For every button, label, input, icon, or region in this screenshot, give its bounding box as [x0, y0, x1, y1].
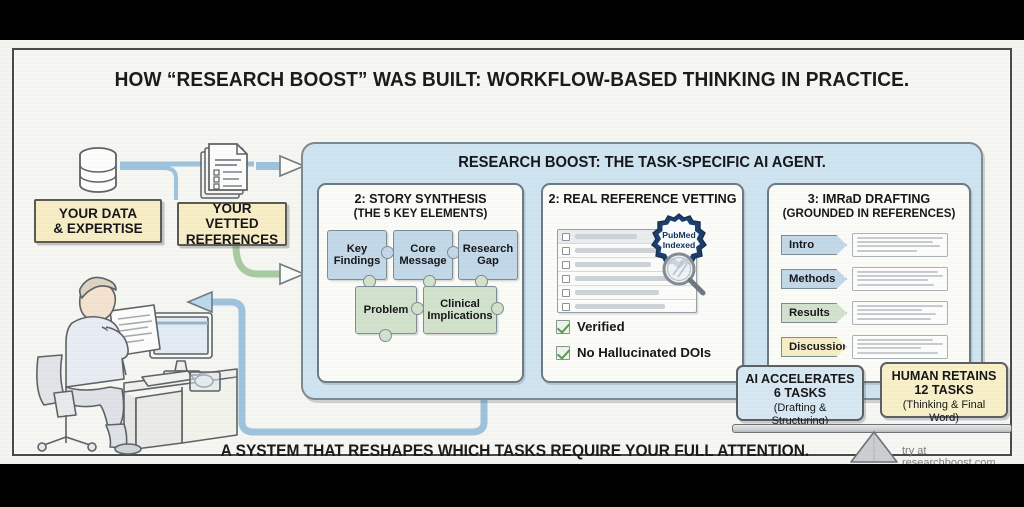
puzzle-piece-research-gap[interactable]: ResearchGap [458, 230, 518, 280]
checkbox-icon[interactable] [556, 320, 570, 334]
panel3-title: 3: IMRaD DRAFTING (GROUNDED IN REFERENCE… [769, 185, 969, 220]
imrad-text-lines [852, 267, 948, 291]
reference-checkbox[interactable] [562, 233, 570, 241]
document-stack-icon [199, 142, 251, 200]
infographic-canvas: HOW “RESEARCH BOOST” WAS BUILT: WORKFLOW… [0, 0, 1024, 507]
reference-checkbox[interactable] [562, 303, 570, 311]
reference-bar [575, 262, 651, 267]
panel1-title: 2: STORY SYNTHESIS (THE 5 KEY ELEMENTS) [319, 185, 522, 220]
reference-bar [575, 248, 663, 253]
input-box-your-data[interactable]: YOUR DATA& EXPERTISE [34, 199, 162, 243]
magnifying-glass-icon [661, 251, 707, 297]
input-box-your-data-label: YOUR DATA& EXPERTISE [53, 206, 142, 236]
reference-bar [575, 290, 659, 295]
letterbox-bottom [0, 464, 1024, 507]
input-box-refs-label: YOUR VETTEDREFERENCES [185, 201, 279, 246]
callout-ai-accelerates[interactable]: AI ACCELERATES 6 TASKS (Drafting & Struc… [736, 365, 864, 421]
agent-title: RESEARCH BOOST: THE TASK-SPECIFIC AI AGE… [320, 154, 964, 172]
checkbox-icon[interactable] [556, 346, 570, 360]
reference-bar [575, 276, 669, 281]
puzzle-group: KeyFindings CoreMessage ResearchGap [319, 226, 522, 366]
puzzle-knob [491, 302, 504, 315]
check-label: Verified [577, 319, 625, 334]
footer-tagline: A SYSTEM THAT RESHAPES WHICH TASKS REQUI… [44, 442, 984, 461]
poster-paper: HOW “RESEARCH BOOST” WAS BUILT: WORKFLOW… [0, 40, 1024, 464]
panel2-title: 2: REAL REFERENCE VETTING [543, 185, 742, 207]
reference-checkbox[interactable] [562, 275, 570, 283]
reference-checkbox[interactable] [562, 261, 570, 269]
input-box-your-vetted-references[interactable]: YOUR VETTEDREFERENCES [177, 202, 287, 246]
puzzle-piece-clinical-implications[interactable]: ClinicalImplications [423, 286, 497, 334]
imrad-section-methods[interactable]: Methods [781, 267, 948, 291]
research-boost-agent-container: RESEARCH BOOST: THE TASK-SPECIFIC AI AGE… [301, 142, 983, 400]
check-verified: Verified [556, 319, 625, 334]
puzzle-knob [379, 329, 392, 342]
database-icon [76, 147, 120, 193]
page-title: HOW “RESEARCH BOOST” WAS BUILT: WORKFLOW… [49, 68, 975, 92]
poster-frame: HOW “RESEARCH BOOST” WAS BUILT: WORKFLOW… [12, 48, 1012, 456]
imrad-text-lines [852, 233, 948, 257]
imrad-section-discussion[interactable]: Discussion [781, 335, 948, 359]
letterbox-top [0, 0, 1024, 40]
callout-human-retains[interactable]: HUMAN RETAINS 12 TASKS (Thinking & Final… [880, 362, 1008, 418]
check-no-hallucinated-dois: No Hallucinated DOIs [556, 345, 711, 360]
imrad-tag: Intro [781, 235, 847, 255]
reference-checkbox[interactable] [562, 247, 570, 255]
puzzle-piece-core-message[interactable]: CoreMessage [393, 230, 453, 280]
check-label: No Hallucinated DOIs [577, 345, 711, 360]
imrad-section-results[interactable]: Results [781, 301, 948, 325]
panel-story-synthesis: 2: STORY SYNTHESIS (THE 5 KEY ELEMENTS) … [317, 183, 524, 383]
imrad-tag: Methods [781, 269, 847, 289]
panel-real-reference-vetting: 2: REAL REFERENCE VETTING [541, 183, 744, 383]
reference-row[interactable] [558, 300, 696, 313]
puzzle-piece-problem[interactable]: Problem [355, 286, 417, 334]
imrad-text-lines [852, 335, 948, 359]
reference-bar [575, 234, 637, 239]
imrad-text-lines [852, 301, 948, 325]
imrad-tag: Discussion [781, 337, 847, 357]
panel-imrad-drafting: 3: IMRaD DRAFTING (GROUNDED IN REFERENCE… [767, 183, 971, 383]
puzzle-piece-key-findings[interactable]: KeyFindings [327, 230, 387, 280]
imrad-tag: Results [781, 303, 847, 323]
imrad-section-intro[interactable]: Intro [781, 233, 948, 257]
reference-bar [575, 304, 665, 309]
researcher-at-desk-illustration [32, 265, 247, 455]
reference-checkbox[interactable] [562, 289, 570, 297]
